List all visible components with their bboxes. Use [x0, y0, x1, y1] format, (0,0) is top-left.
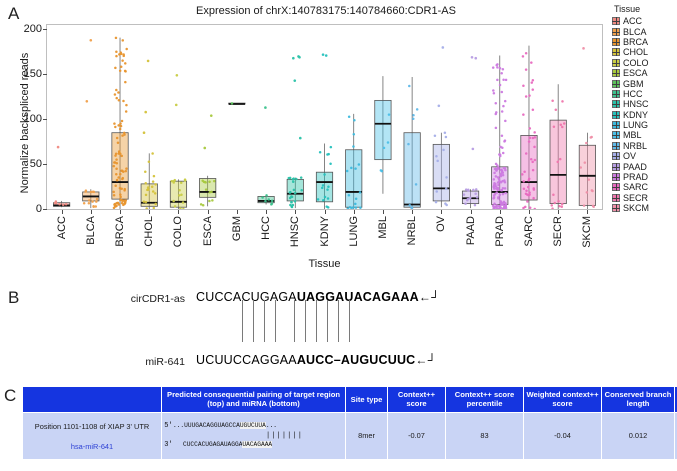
position-text: Position 1101-1108 of XIAP 3' UTR	[25, 422, 159, 431]
legend-item-ov[interactable]: OV	[612, 151, 677, 161]
legend-color-swatch	[612, 163, 620, 171]
x-tick-mark	[237, 210, 238, 214]
x-tick-mark	[91, 210, 92, 214]
box-group-HCC	[258, 106, 274, 205]
legend-item-esca[interactable]: ESCA	[612, 68, 677, 78]
legend-item-label: COLO	[623, 58, 649, 68]
x-tick-mark	[266, 210, 267, 214]
legend-item-label: ACC	[623, 16, 642, 26]
legend-item-label: CHOL	[623, 47, 648, 57]
legend-item-paad[interactable]: PAAD	[612, 161, 677, 171]
box-group-ACC	[53, 146, 69, 207]
legend-color-swatch	[612, 28, 620, 36]
x-tick-label-prad: PRAD	[494, 216, 506, 247]
legend-item-label: SARC	[623, 182, 648, 192]
box-group-BLCA	[83, 39, 99, 208]
target-seq-pre: ...UUUGACAGGUAGCCA	[173, 422, 240, 429]
legend-item-label: KDNY	[623, 110, 648, 120]
target-seq-highlight: UGUCUUA	[240, 422, 266, 429]
cell-position: Position 1101-1108 of XIAP 3' UTR hsa-mi…	[23, 412, 162, 459]
box-group-GBM	[229, 102, 245, 105]
mirna-seq-highlight: UACAGAAA	[242, 441, 272, 448]
panel-c-targetscan-table: C Predicted consequential pairing of tar…	[0, 384, 677, 471]
y-tick-label: 150	[24, 68, 42, 80]
x-tick-label-sarc: SARC	[523, 216, 535, 247]
x-tick-label-mbl: MBL	[377, 216, 389, 239]
legend-item-colo[interactable]: COLO	[612, 58, 677, 68]
x-tick-label-skcm: SKCM	[581, 216, 593, 248]
target-sequence: ...UUUGACAGGUAGCCAUGUCUUA...	[173, 421, 277, 430]
box-group-PRAD	[492, 56, 508, 209]
x-tick-label-blca: BLCA	[85, 216, 97, 245]
legend-item-lung[interactable]: LUNG	[612, 120, 677, 130]
cell-site-type: 8mer	[346, 412, 388, 459]
pairing-bar	[327, 300, 328, 342]
legend-item-sarc[interactable]: SARC	[612, 182, 677, 192]
box-group-SARC	[521, 46, 537, 209]
pairing-bar	[275, 300, 276, 342]
y-tick-label: 100	[24, 113, 42, 125]
box-group-HNSC	[287, 55, 303, 208]
col-header-weighted-context: Weighted context++ score	[524, 387, 602, 413]
target-seq-post: ...	[266, 422, 277, 429]
legend-color-swatch	[612, 111, 620, 119]
legend-item-label: MBL	[623, 130, 642, 140]
panel-b-alignment: B cirCDR1-as CUCCACUGAGAUAGGAUACAGAAA←┘ …	[0, 282, 677, 378]
legend-item-label: ESCA	[623, 68, 648, 78]
box-group-BRCA	[112, 37, 128, 209]
cell-pairing-alignment: 5' ...UUUGACAGGUAGCCAUGUCUUA... ||||||| …	[162, 412, 346, 459]
x-axis-label: Tissue	[46, 258, 603, 270]
x-tick-mark	[412, 210, 413, 214]
chart-title: Expression of chrX:140783175:140784660:C…	[96, 5, 556, 17]
y-axis-ticks: 050100150200	[0, 24, 42, 210]
y-tick-label: 50	[30, 158, 42, 170]
legend-item-skcm[interactable]: SKCM	[612, 203, 677, 213]
legend-item-label: SKCM	[623, 203, 649, 213]
cell-weighted-context-score: -0.04	[524, 412, 602, 459]
x-tick-label-brca: BRCA	[114, 216, 126, 247]
x-tick-mark	[471, 210, 472, 214]
legend-color-swatch	[612, 121, 620, 129]
legend-item-hcc[interactable]: HCC	[612, 89, 677, 99]
circdr1as-seq-arrow: ←┘	[419, 290, 440, 304]
pairing-bar	[349, 300, 350, 342]
panel-a-letter: A	[8, 4, 19, 24]
mirna-sequence: CUCCACUGAGAUAGGAUACAGAAA	[183, 440, 272, 449]
col-header-context-percentile: Context++ score percentile	[446, 387, 524, 413]
cell-conserved-branch-length: 0.012	[602, 412, 675, 459]
legend-item-brca[interactable]: BRCA	[612, 37, 677, 47]
box-group-MBL	[375, 76, 391, 194]
target-alignment-row: 5' ...UUUGACAGGUAGCCAUGUCUUA...	[164, 421, 343, 432]
box-group-PAAD	[462, 56, 478, 208]
panel-a-boxplot: A Expression of chrX:140783175:140784660…	[0, 0, 677, 275]
legend-items: ACCBLCABRCACHOLCOLOESCAGBMHCCHNSCKDNYLUN…	[612, 16, 677, 213]
tissue-legend: Tissue ACCBLCABRCACHOLCOLOESCAGBMHCCHNSC…	[612, 4, 677, 213]
col-header-context-score: Context++ score	[388, 387, 446, 413]
pairing-bar	[316, 300, 317, 342]
legend-color-swatch	[612, 59, 620, 67]
legend-item-mbl[interactable]: MBL	[612, 130, 677, 140]
y-tick-mark	[43, 164, 47, 165]
legend-item-gbm[interactable]: GBM	[612, 78, 677, 88]
box-group-COLO	[170, 74, 186, 209]
legend-item-kdny[interactable]: KDNY	[612, 110, 677, 120]
mir641-label: miR-641	[65, 356, 185, 368]
box-group-SKCM	[579, 47, 595, 209]
legend-color-swatch	[612, 48, 620, 56]
targetscan-table: Predicted consequential pairing of targe…	[22, 386, 677, 460]
x-tick-mark	[354, 210, 355, 214]
x-tick-mark	[383, 210, 384, 214]
x-tick-mark	[441, 210, 442, 214]
pairing-bar	[242, 300, 243, 342]
legend-color-swatch	[612, 204, 620, 212]
x-tick-label-acc: ACC	[56, 216, 68, 239]
x-tick-mark	[558, 210, 559, 214]
table-row: Position 1101-1108 of XIAP 3' UTR hsa-mi…	[23, 412, 677, 459]
boxplot-svg	[47, 25, 602, 209]
x-tick-label-nrbl: NRBL	[406, 216, 418, 245]
panel-b-letter: B	[8, 288, 19, 308]
x-tick-mark	[500, 210, 501, 214]
legend-item-chol[interactable]: CHOL	[612, 47, 677, 57]
y-tick-mark	[43, 119, 47, 120]
box-group-OV	[433, 46, 449, 207]
x-tick-label-hnsc: HNSC	[289, 216, 301, 247]
x-tick-label-paad: PAAD	[465, 216, 477, 245]
legend-item-label: OV	[623, 151, 636, 161]
y-tick-mark	[43, 29, 47, 30]
x-tick-mark	[587, 210, 588, 214]
mir641-seq-bold: AUCC–AUGUCUUC	[297, 353, 416, 367]
legend-item-label: SECR	[623, 193, 648, 203]
legend-item-nrbl[interactable]: NRBL	[612, 141, 677, 151]
legend-color-swatch	[612, 173, 620, 181]
box-group-SECR	[550, 84, 566, 209]
box-group-ESCA	[199, 114, 215, 206]
y-tick-mark	[43, 209, 47, 210]
x-tick-mark	[149, 210, 150, 214]
base-pair-bars	[242, 300, 382, 342]
mirna-alignment-row: 3' CUCCACUGAGAUAGGAUACAGAAA	[164, 440, 343, 451]
legend-item-label: HNSC	[623, 99, 649, 109]
legend-color-swatch	[612, 100, 620, 108]
legend-color-swatch	[612, 17, 620, 25]
y-tick-label: 0	[36, 203, 42, 215]
x-tick-mark	[120, 210, 121, 214]
pairing-bar	[264, 300, 265, 342]
col-header-blank	[23, 387, 162, 413]
legend-item-acc[interactable]: ACC	[612, 16, 677, 26]
mir641-seq-prefix: UCUUCCAGGAA	[196, 353, 297, 367]
legend-item-label: NRBL	[623, 141, 647, 151]
legend-item-prad[interactable]: PRAD	[612, 172, 677, 182]
box-group-LUNG	[346, 114, 362, 209]
legend-item-blca[interactable]: BLCA	[612, 26, 677, 36]
table-header-row: Predicted consequential pairing of targe…	[23, 387, 677, 413]
box-group-NRBL	[404, 77, 420, 209]
panel-c-letter: C	[4, 386, 16, 406]
x-tick-label-hcc: HCC	[260, 216, 272, 240]
y-tick-label: 200	[24, 23, 42, 35]
pairing-bar	[253, 300, 254, 342]
box-group-CHOL	[141, 60, 157, 209]
x-tick-label-chol: CHOL	[143, 216, 155, 247]
mirna-prime-label: 3'	[164, 440, 173, 451]
cell-context-percentile: 83	[446, 412, 524, 459]
legend-item-secr[interactable]: SECR	[612, 193, 677, 203]
x-tick-label-colo: COLO	[172, 216, 184, 247]
x-tick-label-lung: LUNG	[348, 216, 360, 247]
legend-item-label: BRCA	[623, 37, 648, 47]
legend-color-swatch	[612, 152, 620, 160]
pairing-bars: |||||||	[226, 432, 343, 440]
x-tick-label-secr: SECR	[552, 216, 564, 247]
x-tick-mark	[529, 210, 530, 214]
col-header-site-type: Site type	[346, 387, 388, 413]
x-tick-mark	[295, 210, 296, 214]
mirna-link[interactable]: hsa-miR-641	[25, 442, 159, 451]
x-tick-label-esca: ESCA	[202, 216, 214, 246]
x-tick-label-kdny: KDNY	[319, 216, 331, 247]
legend-color-swatch	[612, 90, 620, 98]
cell-context-score: -0.07	[388, 412, 446, 459]
x-tick-mark	[208, 210, 209, 214]
legend-color-swatch	[612, 131, 620, 139]
x-tick-mark	[178, 210, 179, 214]
box-group-KDNY	[316, 53, 332, 209]
x-tick-label-gbm: GBM	[231, 216, 243, 241]
legend-item-label: GBM	[623, 79, 644, 89]
legend-color-swatch	[612, 194, 620, 202]
plot-area	[46, 24, 603, 210]
legend-color-swatch	[612, 69, 620, 77]
legend-color-swatch	[612, 142, 620, 150]
x-tick-mark	[62, 210, 63, 214]
legend-item-label: BLCA	[623, 27, 647, 37]
col-header-branch-length: Conserved branch length	[602, 387, 675, 413]
y-tick-mark	[43, 74, 47, 75]
x-tick-mark	[325, 210, 326, 214]
mir641-seq-arrow: ←┘	[415, 353, 436, 367]
mirna-seq-pre: CUCCACUGAGAUAGGA	[183, 441, 242, 448]
pairing-bar	[338, 300, 339, 342]
x-tick-label-ov: OV	[435, 216, 447, 232]
legend-color-swatch	[612, 80, 620, 88]
pairing-bar	[305, 300, 306, 342]
legend-item-label: HCC	[623, 89, 643, 99]
mir641-sequence: UCUUCCAGGAAAUCC–AUGUCUUC←┘	[196, 353, 436, 367]
target-prime-label: 5'	[164, 421, 173, 432]
col-header-pairing: Predicted consequential pairing of targe…	[162, 387, 346, 413]
legend-item-hnsc[interactable]: HNSC	[612, 99, 677, 109]
legend-title: Tissue	[614, 4, 677, 14]
legend-item-label: PRAD	[623, 172, 648, 182]
legend-item-label: LUNG	[623, 120, 648, 130]
pairing-bar	[294, 300, 295, 342]
legend-color-swatch	[612, 183, 620, 191]
legend-item-label: PAAD	[623, 162, 647, 172]
legend-color-swatch	[612, 38, 620, 46]
circdr1as-label: cirCDR1-as	[65, 293, 185, 305]
